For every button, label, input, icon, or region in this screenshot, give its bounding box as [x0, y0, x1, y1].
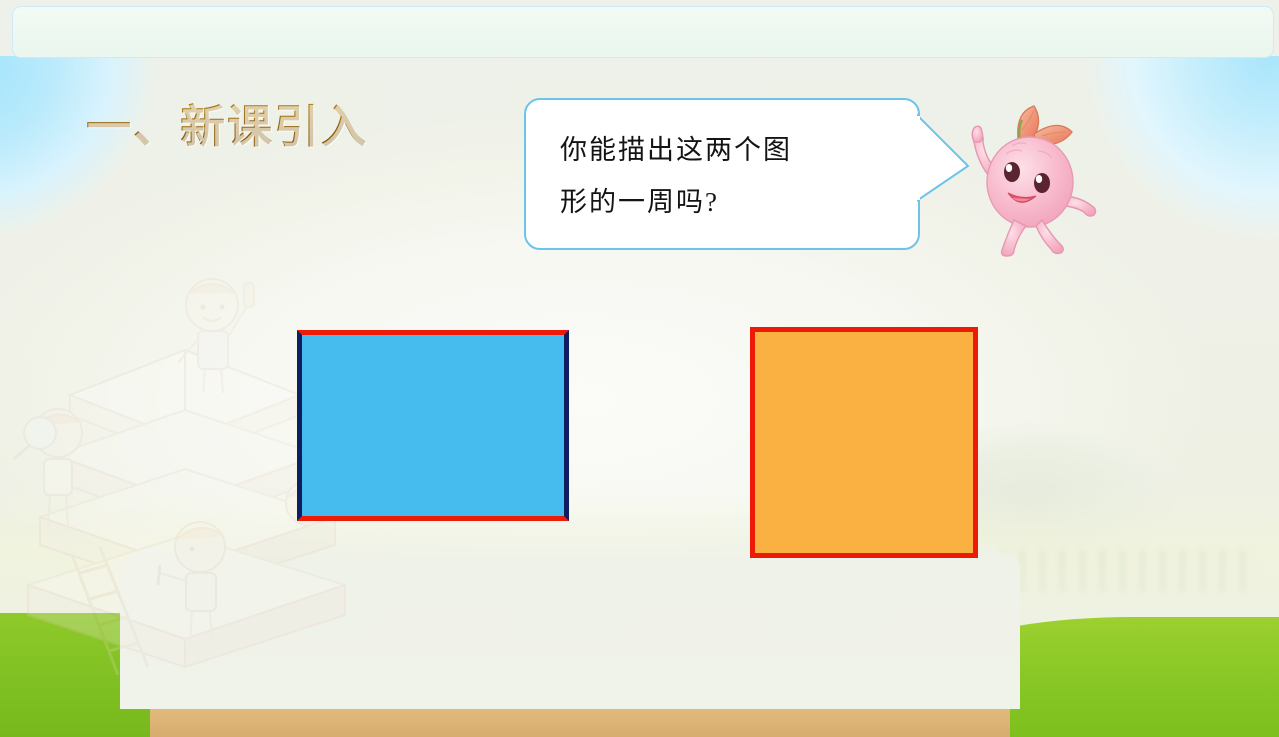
speech-bubble: 你能描出这两个图 形的一周吗? — [524, 98, 944, 253]
header-band — [12, 6, 1274, 58]
slide-canvas: 一、新课引入 你能描出这两个图 形的一周吗? — [0, 0, 1279, 737]
page-title: 一、新课引入 — [86, 90, 368, 155]
orange-square-figure — [750, 327, 978, 558]
peach-mascot — [960, 100, 1100, 260]
blue-rectangle-figure — [297, 330, 569, 521]
speech-bubble-line-1: 你能描出这两个图 — [560, 124, 890, 176]
speech-bubble-text: 你能描出这两个图 形的一周吗? — [560, 124, 890, 228]
speech-bubble-line-2: 形的一周吗? — [560, 176, 890, 228]
